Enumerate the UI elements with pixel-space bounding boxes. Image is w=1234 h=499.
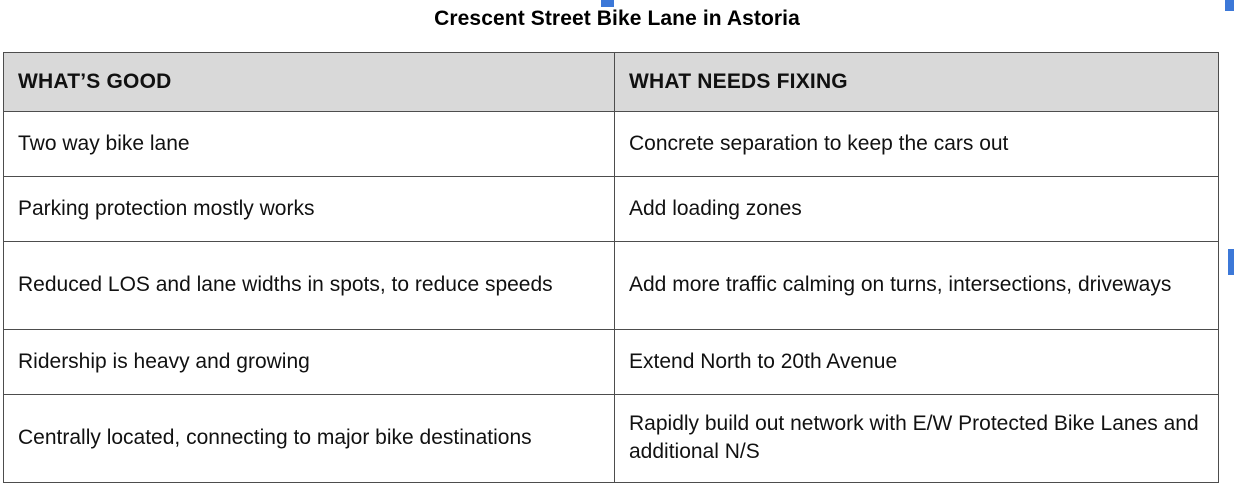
table-row: Parking protection mostly works Add load… xyxy=(4,177,1219,242)
cell-fixing-4: Extend North to 20th Avenue xyxy=(615,330,1219,395)
comparison-table: WHAT’S GOOD WHAT NEEDS FIXING Two way bi… xyxy=(3,52,1219,483)
table-right-middle-handle[interactable] xyxy=(1228,249,1234,275)
table-header-row: WHAT’S GOOD WHAT NEEDS FIXING xyxy=(4,53,1219,112)
column-header-whats-good: WHAT’S GOOD xyxy=(4,53,615,112)
table-row: Reduced LOS and lane widths in spots, to… xyxy=(4,242,1219,330)
column-header-what-needs-fixing: WHAT NEEDS FIXING xyxy=(615,53,1219,112)
cell-good-5: Centrally located, connecting to major b… xyxy=(4,395,615,483)
cell-good-4: Ridership is heavy and growing xyxy=(4,330,615,395)
cell-fixing-5: Rapidly build out network with E/W Prote… xyxy=(615,395,1219,483)
table-body: Two way bike lane Concrete separation to… xyxy=(4,112,1219,483)
cell-fixing-3: Add more traffic calming on turns, inter… xyxy=(615,242,1219,330)
cell-good-3: Reduced LOS and lane widths in spots, to… xyxy=(4,242,615,330)
table-row: Centrally located, connecting to major b… xyxy=(4,395,1219,483)
page-title: Crescent Street Bike Lane in Astoria xyxy=(0,6,1234,32)
cell-good-2: Parking protection mostly works xyxy=(4,177,615,242)
page-top-right-handle[interactable] xyxy=(1225,0,1234,11)
table-header: WHAT’S GOOD WHAT NEEDS FIXING xyxy=(4,53,1219,112)
table-row: Two way bike lane Concrete separation to… xyxy=(4,112,1219,177)
table-top-center-handle[interactable] xyxy=(601,0,614,7)
table-row: Ridership is heavy and growing Extend No… xyxy=(4,330,1219,395)
cell-fixing-1: Concrete separation to keep the cars out xyxy=(615,112,1219,177)
cell-good-1: Two way bike lane xyxy=(4,112,615,177)
cell-fixing-2: Add loading zones xyxy=(615,177,1219,242)
